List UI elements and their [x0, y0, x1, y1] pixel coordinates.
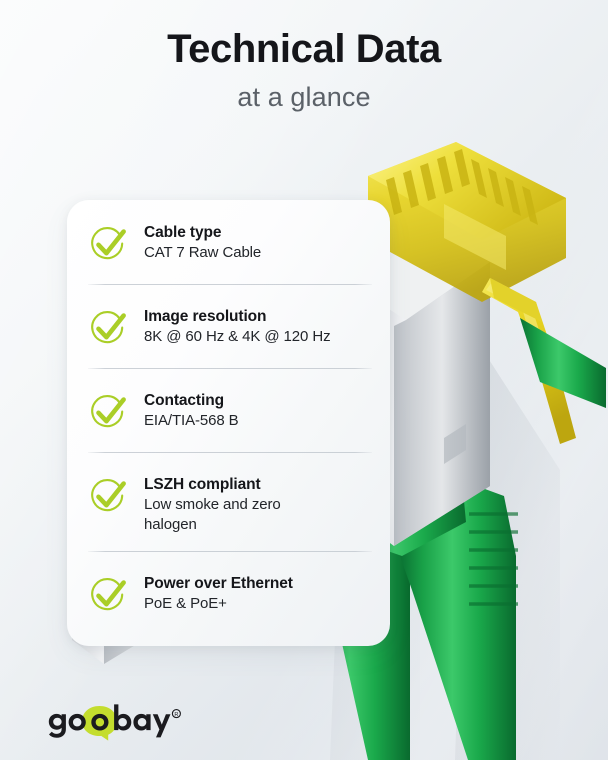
feature-row: Image resolution 8K @ 60 Hz & 4K @ 120 H… [67, 285, 390, 368]
check-circle-icon [88, 476, 128, 516]
feature-row: LSZH compliant Low smoke and zero haloge… [67, 453, 390, 551]
feature-row: Power over Ethernet PoE & PoE+ [67, 552, 390, 636]
page-subtitle: at a glance [0, 72, 608, 113]
feature-value: PoE & PoE+ [144, 595, 227, 612]
feature-row: Cable type CAT 7 Raw Cable [67, 200, 390, 284]
check-circle-icon [88, 575, 128, 615]
svg-text:R: R [174, 712, 178, 718]
page-title: Technical Data [0, 0, 608, 72]
feature-value: 8K @ 60 Hz & 4K @ 120 Hz [144, 328, 330, 345]
check-circle-icon [88, 392, 128, 432]
feature-text: LSZH compliant Low smoke and zero haloge… [144, 474, 370, 535]
feature-row: Contacting EIA/TIA-568 B [67, 369, 390, 452]
feature-value: Low smoke and zero halogen [144, 495, 289, 535]
feature-title: Power over Ethernet [144, 575, 293, 592]
trademark-symbol: R [172, 710, 180, 718]
check-circle-icon [88, 224, 128, 264]
feature-title: Contacting [144, 392, 224, 409]
feature-title: Cable type [144, 224, 221, 241]
check-circle-icon [88, 308, 128, 348]
infographic-canvas: Technical Data at a glance Cable type CA… [0, 0, 608, 760]
feature-title: Image resolution [144, 308, 266, 325]
feature-text: Image resolution 8K @ 60 Hz & 4K @ 120 H… [144, 306, 370, 347]
goobay-logo: R [47, 702, 207, 742]
logo-bubble-shape [82, 706, 117, 741]
feature-text: Contacting EIA/TIA-568 B [144, 390, 370, 431]
feature-title: LSZH compliant [144, 476, 261, 493]
feature-value: EIA/TIA-568 B [144, 412, 239, 429]
header: Technical Data at a glance [0, 0, 608, 113]
feature-text: Power over Ethernet PoE & PoE+ [144, 573, 370, 614]
feature-text: Cable type CAT 7 Raw Cable [144, 222, 370, 263]
feature-value: CAT 7 Raw Cable [144, 244, 261, 261]
specification-card: Cable type CAT 7 Raw Cable Image resolut… [67, 200, 390, 646]
